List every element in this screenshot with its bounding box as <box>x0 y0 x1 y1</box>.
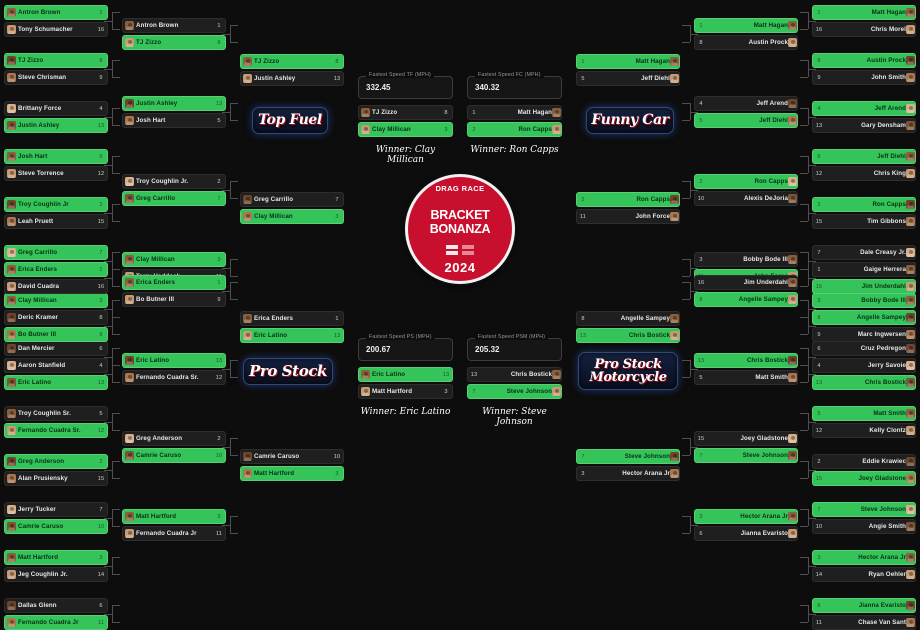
connector-line <box>104 422 112 423</box>
avatar <box>906 121 915 130</box>
connector-line <box>800 574 808 575</box>
bracket-row[interactable]: 15Joey Gladstone <box>812 471 916 486</box>
top-fuel-logo: Top Fuel <box>252 107 328 134</box>
christmas-tree-icon <box>444 244 476 256</box>
bracket-row[interactable]: 14Ryan Oehler <box>812 567 916 582</box>
final-matchup-row[interactable]: 7Steve Johnson <box>467 384 562 399</box>
seed-number: 5 <box>577 76 589 82</box>
avatar <box>906 426 915 435</box>
bracket-row[interactable]: 3Bobby Bode III <box>812 293 916 308</box>
avatar <box>906 169 915 178</box>
bracket-row[interactable]: 8Angelle Sampey <box>812 310 916 325</box>
bracket-row[interactable]: Camrie Caruso10 <box>240 449 344 464</box>
connector-line <box>112 221 120 222</box>
bracket-row[interactable]: Greg Carrillo7 <box>4 245 108 260</box>
connector-line <box>230 438 231 455</box>
racer-name: Camrie Caruso <box>18 523 95 530</box>
bracket-row[interactable]: 3Hector Arana Jr <box>694 509 798 524</box>
connector-line <box>112 252 113 269</box>
seed-number: 13 <box>95 380 107 386</box>
bracket-row[interactable]: Justin Ashley13 <box>4 118 108 133</box>
bracket-row[interactable]: Troy Coughlin Jr.2 <box>122 174 226 189</box>
bracket-row[interactable]: Dan Mercier6 <box>4 341 108 356</box>
bracket-row[interactable]: Erica Enders1 <box>122 275 226 290</box>
bracket-row[interactable]: Alan Prusiensky15 <box>4 471 108 486</box>
bracket-row[interactable]: Fernando Cuadra Jr11 <box>4 615 108 630</box>
bracket-row[interactable]: Troy Coughlin Sr.5 <box>4 406 108 421</box>
connector-line <box>682 360 690 361</box>
seed-number: 3 <box>95 298 107 304</box>
bracket-row[interactable]: 12Chris King <box>812 166 916 181</box>
bracket-row[interactable]: 8Angelle Sampey <box>694 292 798 307</box>
racer-name: Chris Bostick <box>589 332 670 339</box>
bracket-row[interactable]: 15Joey Gladstone <box>694 431 798 446</box>
bracket-row[interactable]: Matt Hartford3 <box>4 550 108 565</box>
avatar <box>7 248 16 257</box>
racer-name: Greg Carrillo <box>254 196 331 203</box>
connector-line <box>112 430 120 431</box>
bracket-row[interactable]: Clay Millican3 <box>4 293 108 308</box>
bracket-row[interactable]: 15Tim Gibbons <box>812 214 916 229</box>
avatar <box>788 434 797 443</box>
bracket-row[interactable]: Jeg Coughlin Jr.14 <box>4 567 108 582</box>
avatar <box>906 313 915 322</box>
pro-stock-motorcycle-logo-text: Pro Stock Motorcycle <box>589 358 666 385</box>
bracket-row[interactable]: 16Jim Underdahl <box>694 275 798 290</box>
avatar <box>906 56 915 65</box>
connector-line <box>112 526 120 527</box>
tf-final-matchup: TJ Zizzo8 Clay Millican3 <box>358 105 453 139</box>
psm-winner-label: Winner: Steve Johnson <box>467 407 562 427</box>
bracket-row[interactable]: Camrie Caruso10 <box>122 448 226 463</box>
seed-number: 11 <box>813 620 825 626</box>
connector-line <box>112 60 120 61</box>
racer-name: Chris Bostick <box>480 371 552 378</box>
connector-line <box>800 108 808 109</box>
racer-name: Aaron Stanfield <box>18 362 95 369</box>
avatar <box>7 73 16 82</box>
racer-name: Jianna Evaristo <box>825 602 906 609</box>
connector-line <box>104 614 112 615</box>
bracket-row[interactable]: 1Matt Hagan <box>576 54 680 69</box>
fc-winner-label: Winner: Ron Capps <box>467 145 562 155</box>
medallion-line1: DRAG RACE <box>399 184 521 193</box>
connector-line <box>230 181 238 182</box>
seed-number: 2 <box>95 202 107 208</box>
seed-number: 11 <box>213 531 225 537</box>
bracket-row[interactable]: 3Hector Arana Jr <box>812 550 916 565</box>
final-matchup-row[interactable]: TJ Zizzo8 <box>358 105 453 120</box>
connector-line <box>112 461 113 478</box>
seed-number: 7 <box>813 250 825 256</box>
connector-line <box>104 261 112 262</box>
avatar <box>788 116 797 125</box>
racer-name: Eric Latino <box>18 379 95 386</box>
bracket-row[interactable]: 6Jianna Evaristo <box>812 598 916 613</box>
tf-speed-legend: Fastest Speed TF (MPH) <box>366 72 434 78</box>
bracket-row[interactable]: Josh Hart5 <box>122 113 226 128</box>
racer-name: Fernando Cuadra Sr. <box>136 374 213 381</box>
connector-line <box>808 213 816 214</box>
bracket-row[interactable]: 2Ron Capps <box>576 192 680 207</box>
avatar <box>7 344 16 353</box>
bracket-row[interactable]: 5Matt Smith <box>812 406 916 421</box>
avatar <box>906 570 915 579</box>
bracket-row[interactable]: 9Marc Ingwersen <box>812 327 916 342</box>
seed-number: 4 <box>695 101 707 107</box>
seed-number: 16 <box>95 284 107 290</box>
avatar <box>7 104 16 113</box>
connector-line <box>682 533 690 534</box>
final-matchup-row[interactable]: 13Chris Bostick <box>467 367 562 382</box>
connector-line <box>690 34 698 35</box>
avatar <box>670 195 679 204</box>
avatar <box>361 108 370 117</box>
racer-name: Chris King <box>825 170 906 177</box>
bracket-row[interactable]: David Cuadra16 <box>4 279 108 294</box>
connector-line <box>112 12 113 29</box>
bracket-row[interactable]: Tony Schumacher16 <box>4 22 108 37</box>
seed-number: 3 <box>813 555 825 561</box>
connector-line <box>800 430 808 431</box>
bracket-row[interactable]: Greg Carrillo7 <box>240 192 344 207</box>
connector-line <box>112 317 120 318</box>
avatar <box>670 314 679 323</box>
racer-name: Bobby Bode III <box>825 297 906 304</box>
connector-line <box>682 438 690 439</box>
bracket-row[interactable]: Greg Anderson2 <box>122 431 226 446</box>
connector-line <box>112 173 120 174</box>
bracket-row[interactable]: Camrie Caruso10 <box>4 519 108 534</box>
connector-line <box>808 278 816 279</box>
connector-line <box>104 165 112 166</box>
avatar <box>125 373 134 382</box>
bracket-row[interactable]: Justin Ashley13 <box>122 96 226 111</box>
racer-name: Jeff Diehl <box>589 75 670 82</box>
avatar <box>670 212 679 221</box>
bracket-row[interactable]: 11John Force <box>576 209 680 224</box>
racer-name: David Cuadra <box>18 283 95 290</box>
racer-name: Ron Capps <box>707 178 788 185</box>
bracket-row[interactable]: Brittany Force4 <box>4 101 108 116</box>
fc-speed-legend: Fastest Speed FC (MPH) <box>475 72 544 78</box>
connector-line <box>230 533 238 534</box>
bracket-row[interactable]: 2Ron Capps <box>812 197 916 212</box>
seed-number: 7 <box>331 197 343 203</box>
final-matchup-row[interactable]: Clay Millican3 <box>358 122 453 137</box>
avatar <box>125 434 134 443</box>
racer-name: Clay Millican <box>136 256 213 263</box>
ps-winner-label: Winner: Eric Latino <box>358 407 453 417</box>
connector-line <box>800 12 808 13</box>
bracket-row[interactable]: TJ Zizzo8 <box>122 35 226 50</box>
avatar <box>7 426 16 435</box>
bracket-row[interactable]: Justin Ashley13 <box>240 71 344 86</box>
bracket-row[interactable]: 3Hector Arana Jr <box>576 466 680 481</box>
racer-name: Jeg Coughlin Jr. <box>18 571 95 578</box>
funny-car-logo-text: Funny Car <box>591 113 668 127</box>
seed-number: 8 <box>331 59 343 65</box>
connector-line <box>112 348 113 365</box>
connector-line <box>230 103 238 104</box>
bracket-row[interactable]: 2Ron Capps <box>694 174 798 189</box>
avatar <box>906 361 915 370</box>
racer-name: Tony Schumacher <box>18 26 95 33</box>
bracket-row[interactable]: 4Jerry Savoie <box>812 358 916 373</box>
racer-name: Fernando Cuadra Sr. <box>18 427 95 434</box>
connector-line <box>112 365 113 382</box>
avatar <box>906 344 915 353</box>
connector-line <box>800 286 808 287</box>
bracket-row[interactable]: Greg Anderson2 <box>4 454 108 469</box>
bracket-row[interactable]: Bo Butner III9 <box>4 327 108 342</box>
bracket-row[interactable]: 5Jeff Diehl <box>812 149 916 164</box>
racer-name: Steve Johnson <box>825 506 906 513</box>
racer-name: Matt Hagan <box>480 109 552 116</box>
connector-line <box>112 509 113 526</box>
bracket-row[interactable]: Josh Hart5 <box>4 149 108 164</box>
connector-line <box>230 120 238 121</box>
bracket-row[interactable]: 12Kelly Clontz <box>812 423 916 438</box>
racer-name: Jeff Arend <box>707 100 788 107</box>
avatar <box>125 295 134 304</box>
racer-name: Jim Underdahl <box>707 279 788 286</box>
avatar <box>906 8 915 17</box>
racer-name: Erica Enders <box>254 315 331 322</box>
bracket-row[interactable]: 8Austin Prock <box>694 35 798 50</box>
bracket-row[interactable]: 7Steve Johnson <box>576 449 680 464</box>
seed-number: 1 <box>213 23 225 29</box>
connector-line <box>800 221 808 222</box>
connector-line <box>682 259 690 260</box>
final-matchup-row[interactable]: Eric Latino13 <box>358 367 453 382</box>
avatar <box>7 505 16 514</box>
seed-number: 2 <box>813 202 825 208</box>
bracket-row[interactable]: 7Dale Creasy Jr. <box>812 245 916 260</box>
connector-line <box>800 334 808 335</box>
bracket-row[interactable]: 5Matt Smith <box>694 370 798 385</box>
connector-line <box>112 300 113 317</box>
bracket-row[interactable]: 3Bobby Bode III <box>694 252 798 267</box>
bracket-row[interactable]: Bo Butner III9 <box>122 292 226 307</box>
bracket-row[interactable]: Eric Latino13 <box>4 375 108 390</box>
bracket-row[interactable]: Erica Enders1 <box>4 262 108 277</box>
seed-number: 2 <box>468 127 480 133</box>
avatar <box>788 99 797 108</box>
avatar <box>906 474 915 483</box>
final-tf: Fastest Speed TF (MPH) 332.45 TJ Zizzo8 … <box>358 76 453 165</box>
seed-number: 5 <box>695 118 707 124</box>
connector-line <box>230 516 231 533</box>
connector-line <box>808 309 816 310</box>
racer-name: Matt Smith <box>825 410 906 417</box>
seed-number: 7 <box>695 453 707 459</box>
racer-name: Troy Coughlin Jr. <box>136 178 213 185</box>
racer-name: Leah Pruett <box>18 218 95 225</box>
connector-line <box>690 190 698 191</box>
racer-name: Gaige Herrera <box>825 266 906 273</box>
bracket-row[interactable]: 1Matt Hagan <box>694 18 798 33</box>
bracket-row[interactable]: 4Jeff Arend <box>812 101 916 116</box>
bracket-row[interactable]: Leah Pruett15 <box>4 214 108 229</box>
connector-line <box>222 525 230 526</box>
seed-number: 2 <box>695 179 707 185</box>
seed-number: 8 <box>95 315 107 321</box>
bracket-row[interactable]: Antron Brown1 <box>122 18 226 33</box>
bracket-row[interactable]: Matt Hartford3 <box>122 509 226 524</box>
connector-line <box>800 509 808 510</box>
racer-name: Marc Ingwersen <box>825 331 906 338</box>
racer-name: Matt Hagan <box>589 58 670 65</box>
bracket-row[interactable]: Fernando Cuadra Sr.12 <box>122 370 226 385</box>
bracket-row[interactable]: 9John Smith <box>812 70 916 85</box>
seed-number: 5 <box>813 154 825 160</box>
bracket-row[interactable]: Jerry Tucker7 <box>4 502 108 517</box>
seed-number: 15 <box>95 476 107 482</box>
connector-line <box>800 413 808 414</box>
bracket-row[interactable]: Troy Coughlin Jr2 <box>4 197 108 212</box>
seed-number: 13 <box>213 358 225 364</box>
bracket-row[interactable]: Eric Latino13 <box>122 353 226 368</box>
bracket-row[interactable]: Erica Enders1 <box>240 311 344 326</box>
racer-name: Bo Butner III <box>136 296 213 303</box>
avatar <box>906 200 915 209</box>
bracket-row[interactable]: 1Matt Hagan <box>812 5 916 20</box>
avatar <box>125 278 134 287</box>
avatar <box>7 25 16 34</box>
racer-name: Steve Johnson <box>707 452 788 459</box>
avatar <box>788 21 797 30</box>
connector-line <box>112 156 120 157</box>
bracket-row[interactable]: 10Alexis DeJoria <box>694 191 798 206</box>
bracket-row[interactable]: Greg Carrillo7 <box>122 191 226 206</box>
seed-number: 11 <box>95 620 107 626</box>
connector-line <box>104 357 112 358</box>
racer-name: Matt Hartford <box>372 388 440 395</box>
seed-number: 9 <box>813 75 825 81</box>
bracket-row[interactable]: 4Jeff Arend <box>694 96 798 111</box>
racer-name: Camrie Caruso <box>136 452 213 459</box>
bracket-row[interactable]: 8Angelle Sampey <box>576 311 680 326</box>
bracket-row[interactable]: 6Cruz Pedregon <box>812 341 916 356</box>
bracket-row[interactable]: Fernando Cuadra Jr11 <box>122 526 226 541</box>
avatar <box>788 451 797 460</box>
bracket-row[interactable]: Antron Brown1 <box>4 5 108 20</box>
bracket-row[interactable]: 16Chris Morel <box>812 22 916 37</box>
bracket-row[interactable]: Clay Millican3 <box>240 209 344 224</box>
bracket-row[interactable]: Fernando Cuadra Sr.12 <box>4 423 108 438</box>
bracket-row[interactable]: 13Chris Bostick <box>576 328 680 343</box>
connector-line <box>230 25 231 42</box>
racer-name: Jianna Evaristo <box>707 530 788 537</box>
final-ps: Fastest Speed PS (MPH) 200.67 Eric Latin… <box>358 338 453 417</box>
connector-line <box>800 77 808 78</box>
avatar <box>670 57 679 66</box>
bracket-row[interactable]: 7Steve Johnson <box>694 448 798 463</box>
bracket-row[interactable]: 5Jeff Diehl <box>694 113 798 128</box>
avatar <box>125 255 134 264</box>
seed-number: 3 <box>695 514 707 520</box>
final-matchup-row[interactable]: 2Ron Capps <box>467 122 562 137</box>
seed-number: 1 <box>577 59 589 65</box>
bracket-row[interactable]: 13Chris Bostick <box>812 375 916 390</box>
bracket-row[interactable]: Eric Latino13 <box>240 328 344 343</box>
bracket-row[interactable]: Aaron Stanfield4 <box>4 358 108 373</box>
racer-name: Chase Van Sant <box>825 619 906 626</box>
bracket-row[interactable]: 6Jianna Evaristo <box>694 526 798 541</box>
bracket-row[interactable]: Deric Kramer8 <box>4 310 108 325</box>
connector-line <box>800 269 808 270</box>
connector-line <box>808 470 816 471</box>
avatar <box>7 217 16 226</box>
bracket-row[interactable]: 7Steve Johnson <box>812 502 916 517</box>
avatar <box>243 74 252 83</box>
seed-number: 2 <box>213 179 225 185</box>
bracket-row[interactable]: Matt Hartford3 <box>240 466 344 481</box>
seed-number: 8 <box>95 58 107 64</box>
seed-number: 13 <box>813 380 825 386</box>
seed-number: 1 <box>695 23 707 29</box>
connector-line <box>104 21 112 22</box>
seed-number: 1 <box>331 316 343 322</box>
final-matchup-row[interactable]: 1Matt Hagan <box>467 105 562 120</box>
bracket-row[interactable]: 10Angie Smith <box>812 519 916 534</box>
bracket-row[interactable]: 8Austin Prock <box>812 53 916 68</box>
racer-name: John Smith <box>825 74 906 81</box>
connector-line <box>230 360 238 361</box>
avatar <box>906 217 915 226</box>
connector-line <box>800 125 808 126</box>
seed-number: 13 <box>213 101 225 107</box>
avatar <box>7 152 16 161</box>
connector-line <box>230 181 231 198</box>
connector-line <box>112 125 120 126</box>
racer-name: Justin Ashley <box>18 122 95 129</box>
bracket-row[interactable]: Steve Torrence12 <box>4 166 108 181</box>
final-matchup-row[interactable]: Matt Hartford3 <box>358 384 453 399</box>
bracket-row[interactable]: 11Chase Van Sant <box>812 615 916 630</box>
bracket-row[interactable]: 13Chris Bostick <box>694 353 798 368</box>
seed-number: 9 <box>95 332 107 338</box>
racer-name: Matt Hartford <box>136 513 213 520</box>
connector-line <box>808 21 816 22</box>
bracket-row[interactable]: 13Gary Densham <box>812 118 916 133</box>
bracket-row[interactable]: 5Jeff Diehl <box>576 71 680 86</box>
seed-number: 11 <box>577 214 589 220</box>
bracket-row[interactable]: Clay Millican3 <box>122 252 226 267</box>
bracket-row[interactable]: TJ Zizzo8 <box>4 53 108 68</box>
connector-line <box>112 413 113 430</box>
avatar <box>125 451 134 460</box>
bracket-row[interactable]: Steve Chrisman9 <box>4 70 108 85</box>
avatar <box>670 74 679 83</box>
seed-number: 5 <box>95 154 107 160</box>
connector-line <box>112 286 120 287</box>
connector-line <box>808 374 816 375</box>
bracket-row[interactable]: Dallas Glenn6 <box>4 598 108 613</box>
bracket-row[interactable]: 2Eddie Krawiec <box>812 454 916 469</box>
connector-line <box>112 60 113 77</box>
bracket-row[interactable]: 1Gaige Herrera <box>812 262 916 277</box>
bracket-row[interactable]: 16Jim Underdahl <box>812 279 916 294</box>
connector-line <box>800 365 808 366</box>
seed-number: 7 <box>813 507 825 513</box>
bracket-row[interactable]: TJ Zizzo8 <box>240 54 344 69</box>
seed-number: 4 <box>95 363 107 369</box>
avatar <box>906 152 915 161</box>
avatar <box>7 457 16 466</box>
connector-line <box>230 259 231 276</box>
